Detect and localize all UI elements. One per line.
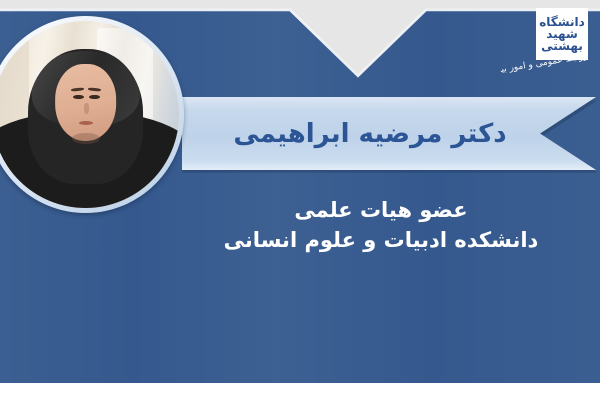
person-name: دکتر مرضیه ابراهیمی — [182, 97, 558, 170]
faculty-profile-poster: دکتر مرضیه ابراهیمی عضو هیات علمی دانشکد… — [0, 0, 600, 400]
portrait-photo — [0, 21, 179, 208]
caption-line-role: عضو هیات علمی — [176, 196, 586, 226]
caption-block: عضو هیات علمی دانشکده ادبیات و علوم انسا… — [176, 196, 586, 256]
caption-line-faculty: دانشکده ادبیات و علوم انسانی — [176, 226, 586, 256]
university-logo: دانشگاه شهید بهشتی روابط عمومی و امور بی… — [502, 8, 590, 94]
portrait-frame — [0, 16, 184, 213]
university-logo-text: دانشگاه شهید بهشتی — [538, 10, 586, 58]
logo-line-3: بهشتی — [541, 40, 583, 52]
public-relations-script: روابط عمومی و امور بین‌الملل — [500, 51, 592, 98]
mouth-shape — [79, 121, 93, 125]
nose-shape — [84, 103, 89, 114]
